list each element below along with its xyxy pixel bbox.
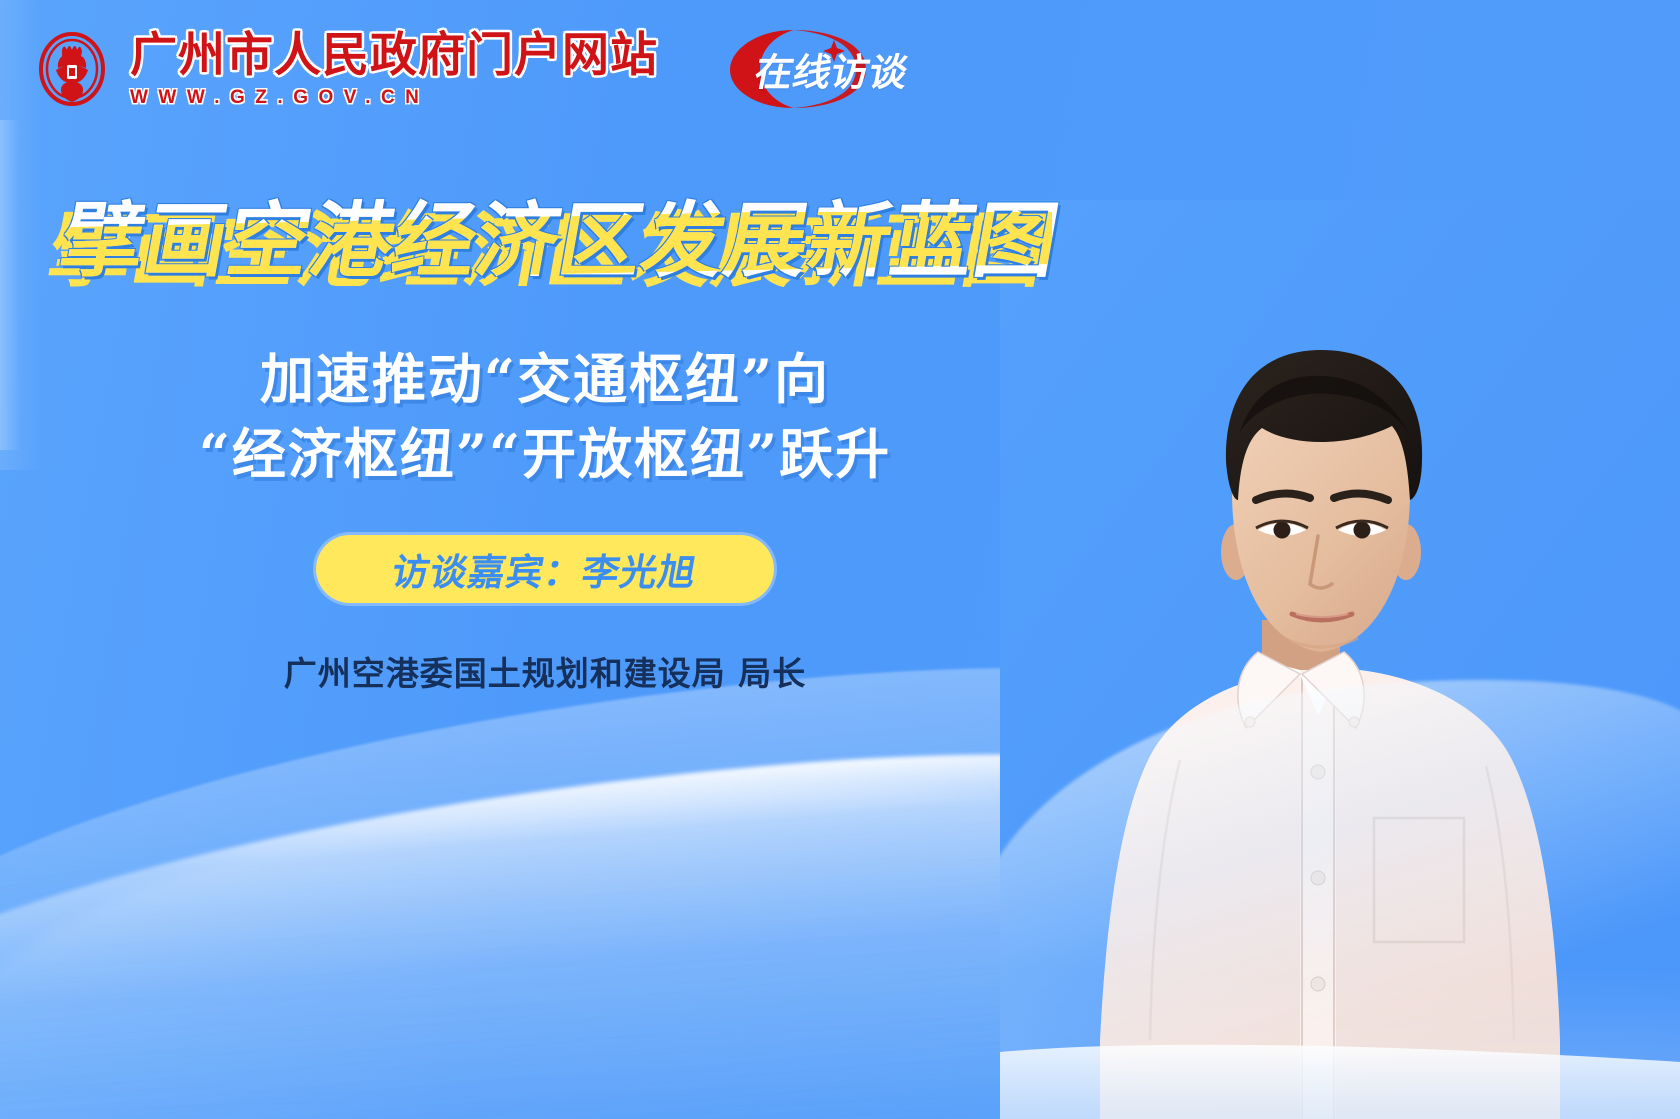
site-header: 广州市人民政府门户网站 WWW.GZ.GOV.CN 在线访谈 [36, 26, 906, 112]
online-interview-badge: 在线访谈 [716, 26, 906, 112]
site-wordmark: 广州市人民政府门户网站 WWW.GZ.GOV.CN [130, 32, 658, 107]
guest-photo [1000, 200, 1680, 1119]
interview-banner: 广州市人民政府门户网站 WWW.GZ.GOV.CN 在线访谈 擘画空港经济区发展… [0, 0, 1680, 1119]
hero-text-block: 擘画空港经济区发展新蓝图 擘画空港经济区发展新蓝图 擘画空港经济区发展新蓝图 加… [0, 196, 1090, 695]
site-name: 广州市人民政府门户网站 [130, 32, 658, 79]
guest-name-badge: 访谈嘉宾：李光旭 [316, 535, 774, 603]
subtitle-line-1: 加速推动“交通枢纽”向 [0, 342, 1090, 417]
guangzhou-kapok-emblem-icon [36, 30, 108, 108]
site-url: WWW.GZ.GOV.CN [130, 88, 658, 107]
subtitle: 加速推动“交通枢纽”向 “经济枢纽”“开放枢纽”跃升 [0, 342, 1090, 491]
guest-role-label: 广州空港委国土规划和建设局 局长 [0, 647, 1090, 695]
online-interview-label: 在线访谈 [751, 42, 914, 97]
page-title: 擘画空港经济区发展新蓝图 [54, 196, 1066, 288]
subtitle-line-2: “经济枢纽”“开放枢纽”跃升 [0, 417, 1090, 492]
main-title-wrap: 擘画空港经济区发展新蓝图 擘画空港经济区发展新蓝图 擘画空港经济区发展新蓝图 [0, 196, 1090, 314]
guest-name-label: 访谈嘉宾：李光旭 [388, 542, 702, 596]
